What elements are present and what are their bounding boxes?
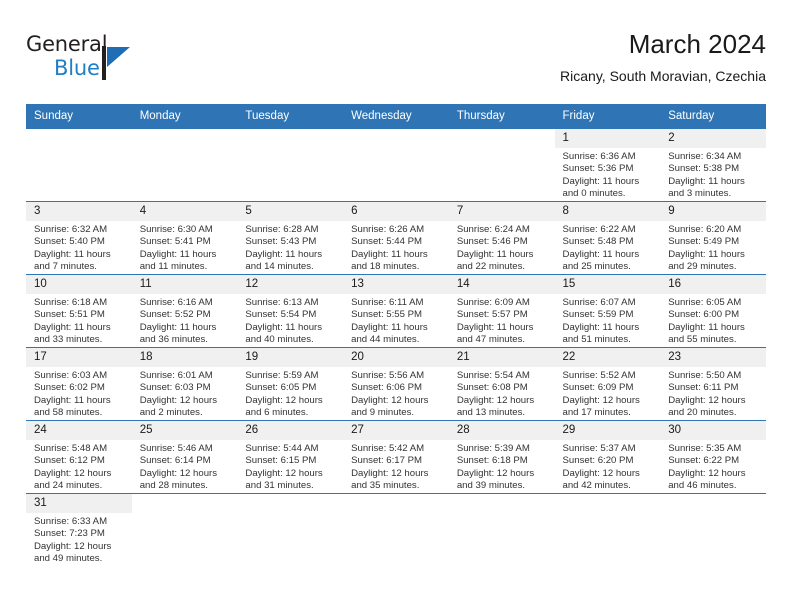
day-number bbox=[132, 129, 238, 148]
sun-info-line-1: Sunrise: 6:01 AM bbox=[140, 370, 232, 382]
sun-info-line-3: Daylight: 11 hours bbox=[245, 249, 337, 261]
sun-info-line-1: Sunrise: 5:59 AM bbox=[245, 370, 337, 382]
day-number: 29 bbox=[555, 421, 661, 440]
sun-info-line-4: and 49 minutes. bbox=[34, 553, 126, 565]
sun-info-line-1: Sunrise: 5:48 AM bbox=[34, 443, 126, 455]
sun-info-line-4: and 25 minutes. bbox=[563, 261, 655, 273]
sun-info-line-2: Sunset: 6:08 PM bbox=[457, 382, 549, 394]
sun-info-line-3: Daylight: 11 hours bbox=[34, 395, 126, 407]
sun-info-line-2: Sunset: 5:52 PM bbox=[140, 309, 232, 321]
sun-info-line-3: Daylight: 11 hours bbox=[457, 322, 549, 334]
sun-info-line-2: Sunset: 5:44 PM bbox=[351, 236, 443, 248]
day-cell-content: 5Sunrise: 6:28 AMSunset: 5:43 PMDaylight… bbox=[237, 202, 343, 274]
day-sun-info: Sunrise: 5:56 AMSunset: 6:06 PMDaylight:… bbox=[343, 367, 449, 419]
day-number bbox=[660, 494, 766, 513]
sun-info-line-2: Sunset: 5:55 PM bbox=[351, 309, 443, 321]
calendar-week-row: 10Sunrise: 6:18 AMSunset: 5:51 PMDayligh… bbox=[26, 275, 766, 348]
day-cell-content: 20Sunrise: 5:56 AMSunset: 6:06 PMDayligh… bbox=[343, 348, 449, 420]
calendar-day-cell[interactable]: 29Sunrise: 5:37 AMSunset: 6:20 PMDayligh… bbox=[555, 421, 661, 494]
sun-info-line-3: Daylight: 12 hours bbox=[245, 395, 337, 407]
weekday-header-monday: Monday bbox=[132, 104, 238, 129]
sun-info-line-4: and 29 minutes. bbox=[668, 261, 760, 273]
calendar-day-cell[interactable]: 11Sunrise: 6:16 AMSunset: 5:52 PMDayligh… bbox=[132, 275, 238, 348]
sun-info-line-3: Daylight: 11 hours bbox=[34, 322, 126, 334]
day-sun-info: Sunrise: 6:36 AMSunset: 5:36 PMDaylight:… bbox=[555, 148, 661, 200]
sun-info-line-1: Sunrise: 5:42 AM bbox=[351, 443, 443, 455]
page-header: General Blue March 2024 Ricany, South Mo… bbox=[26, 28, 766, 100]
sun-info-line-1: Sunrise: 5:37 AM bbox=[563, 443, 655, 455]
day-number: 9 bbox=[660, 202, 766, 221]
day-cell-content: 3Sunrise: 6:32 AMSunset: 5:40 PMDaylight… bbox=[26, 202, 132, 274]
day-cell-content bbox=[660, 494, 766, 566]
sun-info-line-2: Sunset: 7:23 PM bbox=[34, 528, 126, 540]
day-number: 19 bbox=[237, 348, 343, 367]
day-cell-content: 15Sunrise: 6:07 AMSunset: 5:59 PMDayligh… bbox=[555, 275, 661, 347]
sun-info-line-3: Daylight: 11 hours bbox=[457, 249, 549, 261]
calendar-day-cell[interactable]: 16Sunrise: 6:05 AMSunset: 6:00 PMDayligh… bbox=[660, 275, 766, 348]
day-sun-info: Sunrise: 6:11 AMSunset: 5:55 PMDaylight:… bbox=[343, 294, 449, 346]
calendar-day-cell[interactable]: 4Sunrise: 6:30 AMSunset: 5:41 PMDaylight… bbox=[132, 202, 238, 275]
day-cell-content: 27Sunrise: 5:42 AMSunset: 6:17 PMDayligh… bbox=[343, 421, 449, 493]
day-cell-content bbox=[343, 494, 449, 566]
calendar-day-cell[interactable]: 21Sunrise: 5:54 AMSunset: 6:08 PMDayligh… bbox=[449, 348, 555, 421]
sun-info-line-1: Sunrise: 6:30 AM bbox=[140, 224, 232, 236]
sun-info-line-3: Daylight: 11 hours bbox=[245, 322, 337, 334]
day-cell-content: 23Sunrise: 5:50 AMSunset: 6:11 PMDayligh… bbox=[660, 348, 766, 420]
calendar-week-row: 31Sunrise: 6:33 AMSunset: 7:23 PMDayligh… bbox=[26, 494, 766, 567]
page-subtitle: Ricany, South Moravian, Czechia bbox=[560, 65, 766, 87]
sun-info-line-4: and 58 minutes. bbox=[34, 407, 126, 419]
day-number bbox=[449, 129, 555, 148]
sun-info-line-3: Daylight: 12 hours bbox=[668, 395, 760, 407]
day-cell-content: 13Sunrise: 6:11 AMSunset: 5:55 PMDayligh… bbox=[343, 275, 449, 347]
day-sun-info: Sunrise: 6:24 AMSunset: 5:46 PMDaylight:… bbox=[449, 221, 555, 273]
day-cell-content: 31Sunrise: 6:33 AMSunset: 7:23 PMDayligh… bbox=[26, 494, 132, 566]
sun-info-line-2: Sunset: 6:17 PM bbox=[351, 455, 443, 467]
weekday-header-thursday: Thursday bbox=[449, 104, 555, 129]
sun-info-line-2: Sunset: 5:48 PM bbox=[563, 236, 655, 248]
day-number bbox=[237, 129, 343, 148]
sun-info-line-1: Sunrise: 5:54 AM bbox=[457, 370, 549, 382]
day-number bbox=[343, 129, 449, 148]
calendar-day-cell[interactable]: 9Sunrise: 6:20 AMSunset: 5:49 PMDaylight… bbox=[660, 202, 766, 275]
day-cell-content: 2Sunrise: 6:34 AMSunset: 5:38 PMDaylight… bbox=[660, 129, 766, 201]
day-number: 31 bbox=[26, 494, 132, 513]
day-number: 25 bbox=[132, 421, 238, 440]
sun-info-line-4: and 46 minutes. bbox=[668, 480, 760, 492]
day-cell-content: 4Sunrise: 6:30 AMSunset: 5:41 PMDaylight… bbox=[132, 202, 238, 274]
sun-info-line-4: and 39 minutes. bbox=[457, 480, 549, 492]
day-sun-info: Sunrise: 5:59 AMSunset: 6:05 PMDaylight:… bbox=[237, 367, 343, 419]
day-cell-content: 29Sunrise: 5:37 AMSunset: 6:20 PMDayligh… bbox=[555, 421, 661, 493]
day-cell-content: 21Sunrise: 5:54 AMSunset: 6:08 PMDayligh… bbox=[449, 348, 555, 420]
logo-vertical-bar-icon bbox=[102, 46, 106, 80]
calendar-table: Sunday Monday Tuesday Wednesday Thursday… bbox=[26, 104, 766, 566]
day-cell-content: 8Sunrise: 6:22 AMSunset: 5:48 PMDaylight… bbox=[555, 202, 661, 274]
sun-info-line-2: Sunset: 5:40 PM bbox=[34, 236, 126, 248]
sun-info-line-3: Daylight: 12 hours bbox=[563, 395, 655, 407]
sun-info-line-1: Sunrise: 6:33 AM bbox=[34, 516, 126, 528]
day-cell-content bbox=[26, 129, 132, 201]
day-sun-info: Sunrise: 5:44 AMSunset: 6:15 PMDaylight:… bbox=[237, 440, 343, 492]
day-sun-info: Sunrise: 6:03 AMSunset: 6:02 PMDaylight:… bbox=[26, 367, 132, 419]
sun-info-line-1: Sunrise: 6:16 AM bbox=[140, 297, 232, 309]
day-number bbox=[555, 494, 661, 513]
sun-info-line-4: and 6 minutes. bbox=[245, 407, 337, 419]
logo-text-general: General bbox=[26, 32, 107, 56]
day-sun-info: Sunrise: 6:33 AMSunset: 7:23 PMDaylight:… bbox=[26, 513, 132, 565]
general-blue-logo: General Blue bbox=[26, 32, 176, 88]
day-sun-info: Sunrise: 6:16 AMSunset: 5:52 PMDaylight:… bbox=[132, 294, 238, 346]
day-sun-info: Sunrise: 6:07 AMSunset: 5:59 PMDaylight:… bbox=[555, 294, 661, 346]
calendar-day-cell[interactable]: 30Sunrise: 5:35 AMSunset: 6:22 PMDayligh… bbox=[660, 421, 766, 494]
sun-info-line-3: Daylight: 12 hours bbox=[140, 468, 232, 480]
day-number: 26 bbox=[237, 421, 343, 440]
day-sun-info: Sunrise: 5:50 AMSunset: 6:11 PMDaylight:… bbox=[660, 367, 766, 419]
sun-info-line-4: and 55 minutes. bbox=[668, 334, 760, 346]
calendar-day-cell[interactable]: 6Sunrise: 6:26 AMSunset: 5:44 PMDaylight… bbox=[343, 202, 449, 275]
calendar-day-cell[interactable]: 25Sunrise: 5:46 AMSunset: 6:14 PMDayligh… bbox=[132, 421, 238, 494]
sun-info-line-3: Daylight: 12 hours bbox=[457, 468, 549, 480]
sun-info-line-3: Daylight: 12 hours bbox=[34, 541, 126, 553]
sun-info-line-4: and 11 minutes. bbox=[140, 261, 232, 273]
calendar-day-cell bbox=[343, 494, 449, 567]
day-sun-info: Sunrise: 6:09 AMSunset: 5:57 PMDaylight:… bbox=[449, 294, 555, 346]
calendar-day-cell bbox=[449, 129, 555, 202]
sun-info-line-4: and 22 minutes. bbox=[457, 261, 549, 273]
sun-info-line-4: and 42 minutes. bbox=[563, 480, 655, 492]
sun-info-line-3: Daylight: 11 hours bbox=[563, 322, 655, 334]
sun-info-line-3: Daylight: 12 hours bbox=[563, 468, 655, 480]
sun-info-line-2: Sunset: 6:12 PM bbox=[34, 455, 126, 467]
sun-info-line-4: and 44 minutes. bbox=[351, 334, 443, 346]
day-cell-content: 22Sunrise: 5:52 AMSunset: 6:09 PMDayligh… bbox=[555, 348, 661, 420]
calendar-body: 1Sunrise: 6:36 AMSunset: 5:36 PMDaylight… bbox=[26, 129, 766, 567]
sun-info-line-3: Daylight: 12 hours bbox=[668, 468, 760, 480]
day-number: 7 bbox=[449, 202, 555, 221]
sun-info-line-1: Sunrise: 6:36 AM bbox=[563, 151, 655, 163]
day-sun-info: Sunrise: 6:32 AMSunset: 5:40 PMDaylight:… bbox=[26, 221, 132, 273]
day-sun-info: Sunrise: 5:37 AMSunset: 6:20 PMDaylight:… bbox=[555, 440, 661, 492]
sun-info-line-1: Sunrise: 6:34 AM bbox=[668, 151, 760, 163]
sun-info-line-4: and 0 minutes. bbox=[563, 188, 655, 200]
day-number: 21 bbox=[449, 348, 555, 367]
calendar-day-cell bbox=[449, 494, 555, 567]
day-sun-info: Sunrise: 5:54 AMSunset: 6:08 PMDaylight:… bbox=[449, 367, 555, 419]
day-number: 1 bbox=[555, 129, 661, 148]
sun-info-line-2: Sunset: 5:43 PM bbox=[245, 236, 337, 248]
calendar-day-cell[interactable]: 14Sunrise: 6:09 AMSunset: 5:57 PMDayligh… bbox=[449, 275, 555, 348]
day-number bbox=[343, 494, 449, 513]
sun-info-line-1: Sunrise: 6:22 AM bbox=[563, 224, 655, 236]
sun-info-line-4: and 40 minutes. bbox=[245, 334, 337, 346]
day-cell-content: 28Sunrise: 5:39 AMSunset: 6:18 PMDayligh… bbox=[449, 421, 555, 493]
sun-info-line-3: Daylight: 12 hours bbox=[351, 395, 443, 407]
day-number: 8 bbox=[555, 202, 661, 221]
sun-info-line-3: Daylight: 12 hours bbox=[245, 468, 337, 480]
day-sun-info: Sunrise: 6:18 AMSunset: 5:51 PMDaylight:… bbox=[26, 294, 132, 346]
sun-info-line-1: Sunrise: 6:20 AM bbox=[668, 224, 760, 236]
sun-info-line-4: and 13 minutes. bbox=[457, 407, 549, 419]
sun-info-line-4: and 20 minutes. bbox=[668, 407, 760, 419]
day-sun-info: Sunrise: 6:26 AMSunset: 5:44 PMDaylight:… bbox=[343, 221, 449, 273]
sun-info-line-2: Sunset: 6:14 PM bbox=[140, 455, 232, 467]
calendar-week-row: 17Sunrise: 6:03 AMSunset: 6:02 PMDayligh… bbox=[26, 348, 766, 421]
sun-info-line-4: and 31 minutes. bbox=[245, 480, 337, 492]
weekday-header-wednesday: Wednesday bbox=[343, 104, 449, 129]
day-sun-info: Sunrise: 6:13 AMSunset: 5:54 PMDaylight:… bbox=[237, 294, 343, 346]
day-number: 14 bbox=[449, 275, 555, 294]
sun-info-line-1: Sunrise: 6:13 AM bbox=[245, 297, 337, 309]
calendar-page: General Blue March 2024 Ricany, South Mo… bbox=[0, 0, 792, 612]
day-cell-content bbox=[132, 129, 238, 201]
sun-info-line-1: Sunrise: 6:09 AM bbox=[457, 297, 549, 309]
day-cell-content: 26Sunrise: 5:44 AMSunset: 6:15 PMDayligh… bbox=[237, 421, 343, 493]
sun-info-line-2: Sunset: 5:51 PM bbox=[34, 309, 126, 321]
weekday-header-friday: Friday bbox=[555, 104, 661, 129]
sun-info-line-3: Daylight: 12 hours bbox=[351, 468, 443, 480]
day-sun-info: Sunrise: 6:05 AMSunset: 6:00 PMDaylight:… bbox=[660, 294, 766, 346]
sun-info-line-4: and 17 minutes. bbox=[563, 407, 655, 419]
day-number: 28 bbox=[449, 421, 555, 440]
sun-info-line-3: Daylight: 12 hours bbox=[140, 395, 232, 407]
calendar-day-cell bbox=[237, 129, 343, 202]
sun-info-line-2: Sunset: 6:11 PM bbox=[668, 382, 760, 394]
sun-info-line-2: Sunset: 6:22 PM bbox=[668, 455, 760, 467]
calendar-day-cell[interactable]: 27Sunrise: 5:42 AMSunset: 6:17 PMDayligh… bbox=[343, 421, 449, 494]
day-number: 30 bbox=[660, 421, 766, 440]
sun-info-line-2: Sunset: 6:03 PM bbox=[140, 382, 232, 394]
calendar-day-cell[interactable]: 24Sunrise: 5:48 AMSunset: 6:12 PMDayligh… bbox=[26, 421, 132, 494]
calendar-week-row: 24Sunrise: 5:48 AMSunset: 6:12 PMDayligh… bbox=[26, 421, 766, 494]
calendar-day-cell[interactable]: 18Sunrise: 6:01 AMSunset: 6:03 PMDayligh… bbox=[132, 348, 238, 421]
day-cell-content: 25Sunrise: 5:46 AMSunset: 6:14 PMDayligh… bbox=[132, 421, 238, 493]
sun-info-line-1: Sunrise: 6:32 AM bbox=[34, 224, 126, 236]
calendar-day-cell[interactable]: 17Sunrise: 6:03 AMSunset: 6:02 PMDayligh… bbox=[26, 348, 132, 421]
day-number: 2 bbox=[660, 129, 766, 148]
calendar-day-cell[interactable]: 20Sunrise: 5:56 AMSunset: 6:06 PMDayligh… bbox=[343, 348, 449, 421]
day-number: 4 bbox=[132, 202, 238, 221]
day-cell-content: 12Sunrise: 6:13 AMSunset: 5:54 PMDayligh… bbox=[237, 275, 343, 347]
calendar-day-cell bbox=[132, 129, 238, 202]
day-sun-info: Sunrise: 5:42 AMSunset: 6:17 PMDaylight:… bbox=[343, 440, 449, 492]
calendar-day-cell[interactable]: 23Sunrise: 5:50 AMSunset: 6:11 PMDayligh… bbox=[660, 348, 766, 421]
sun-info-line-3: Daylight: 11 hours bbox=[668, 176, 760, 188]
day-cell-content bbox=[132, 494, 238, 566]
sun-info-line-3: Daylight: 11 hours bbox=[140, 322, 232, 334]
day-cell-content: 7Sunrise: 6:24 AMSunset: 5:46 PMDaylight… bbox=[449, 202, 555, 274]
calendar-day-cell[interactable]: 28Sunrise: 5:39 AMSunset: 6:18 PMDayligh… bbox=[449, 421, 555, 494]
day-number: 12 bbox=[237, 275, 343, 294]
sun-info-line-2: Sunset: 6:15 PM bbox=[245, 455, 337, 467]
sun-info-line-1: Sunrise: 5:39 AM bbox=[457, 443, 549, 455]
day-number: 22 bbox=[555, 348, 661, 367]
sun-info-line-3: Daylight: 11 hours bbox=[563, 176, 655, 188]
day-sun-info: Sunrise: 5:52 AMSunset: 6:09 PMDaylight:… bbox=[555, 367, 661, 419]
sun-info-line-2: Sunset: 5:41 PM bbox=[140, 236, 232, 248]
day-sun-info: Sunrise: 6:28 AMSunset: 5:43 PMDaylight:… bbox=[237, 221, 343, 273]
day-number: 18 bbox=[132, 348, 238, 367]
calendar-day-cell[interactable]: 15Sunrise: 6:07 AMSunset: 5:59 PMDayligh… bbox=[555, 275, 661, 348]
sun-info-line-2: Sunset: 5:46 PM bbox=[457, 236, 549, 248]
sun-info-line-2: Sunset: 6:20 PM bbox=[563, 455, 655, 467]
day-cell-content: 16Sunrise: 6:05 AMSunset: 6:00 PMDayligh… bbox=[660, 275, 766, 347]
sun-info-line-1: Sunrise: 5:35 AM bbox=[668, 443, 760, 455]
sun-info-line-2: Sunset: 6:18 PM bbox=[457, 455, 549, 467]
sun-info-line-3: Daylight: 11 hours bbox=[351, 322, 443, 334]
sun-info-line-3: Daylight: 12 hours bbox=[34, 468, 126, 480]
calendar-day-cell bbox=[343, 129, 449, 202]
sun-info-line-4: and 9 minutes. bbox=[351, 407, 443, 419]
day-number: 17 bbox=[26, 348, 132, 367]
day-number: 6 bbox=[343, 202, 449, 221]
calendar-day-cell[interactable]: 26Sunrise: 5:44 AMSunset: 6:15 PMDayligh… bbox=[237, 421, 343, 494]
sun-info-line-2: Sunset: 5:49 PM bbox=[668, 236, 760, 248]
calendar-day-cell[interactable]: 1Sunrise: 6:36 AMSunset: 5:36 PMDaylight… bbox=[555, 129, 661, 202]
logo-text-blue: Blue bbox=[54, 56, 100, 80]
sun-info-line-4: and 7 minutes. bbox=[34, 261, 126, 273]
day-number: 24 bbox=[26, 421, 132, 440]
day-cell-content: 6Sunrise: 6:26 AMSunset: 5:44 PMDaylight… bbox=[343, 202, 449, 274]
weekday-header-saturday: Saturday bbox=[660, 104, 766, 129]
calendar-day-cell[interactable]: 8Sunrise: 6:22 AMSunset: 5:48 PMDaylight… bbox=[555, 202, 661, 275]
sun-info-line-4: and 36 minutes. bbox=[140, 334, 232, 346]
day-sun-info: Sunrise: 5:39 AMSunset: 6:18 PMDaylight:… bbox=[449, 440, 555, 492]
calendar-day-cell bbox=[237, 494, 343, 567]
sun-info-line-3: Daylight: 11 hours bbox=[34, 249, 126, 261]
day-sun-info: Sunrise: 6:22 AMSunset: 5:48 PMDaylight:… bbox=[555, 221, 661, 273]
weekday-header-tuesday: Tuesday bbox=[237, 104, 343, 129]
triangle-logo-icon bbox=[107, 47, 130, 67]
sun-info-line-2: Sunset: 6:00 PM bbox=[668, 309, 760, 321]
sun-info-line-3: Daylight: 11 hours bbox=[140, 249, 232, 261]
day-sun-info: Sunrise: 5:48 AMSunset: 6:12 PMDaylight:… bbox=[26, 440, 132, 492]
sun-info-line-4: and 28 minutes. bbox=[140, 480, 232, 492]
day-cell-content bbox=[449, 494, 555, 566]
calendar-day-cell[interactable]: 13Sunrise: 6:11 AMSunset: 5:55 PMDayligh… bbox=[343, 275, 449, 348]
sun-info-line-1: Sunrise: 5:44 AM bbox=[245, 443, 337, 455]
calendar-header-row: Sunday Monday Tuesday Wednesday Thursday… bbox=[26, 104, 766, 129]
day-cell-content: 9Sunrise: 6:20 AMSunset: 5:49 PMDaylight… bbox=[660, 202, 766, 274]
sun-info-line-1: Sunrise: 6:28 AM bbox=[245, 224, 337, 236]
calendar-day-cell[interactable]: 5Sunrise: 6:28 AMSunset: 5:43 PMDaylight… bbox=[237, 202, 343, 275]
sun-info-line-4: and 18 minutes. bbox=[351, 261, 443, 273]
sun-info-line-4: and 2 minutes. bbox=[140, 407, 232, 419]
calendar-day-cell[interactable]: 22Sunrise: 5:52 AMSunset: 6:09 PMDayligh… bbox=[555, 348, 661, 421]
day-cell-content bbox=[555, 494, 661, 566]
calendar-day-cell[interactable]: 2Sunrise: 6:34 AMSunset: 5:38 PMDaylight… bbox=[660, 129, 766, 202]
weekday-header-sunday: Sunday bbox=[26, 104, 132, 129]
sun-info-line-3: Daylight: 11 hours bbox=[668, 249, 760, 261]
day-number bbox=[449, 494, 555, 513]
sun-info-line-4: and 35 minutes. bbox=[351, 480, 443, 492]
sun-info-line-3: Daylight: 11 hours bbox=[668, 322, 760, 334]
calendar-day-cell bbox=[555, 494, 661, 567]
day-sun-info: Sunrise: 6:34 AMSunset: 5:38 PMDaylight:… bbox=[660, 148, 766, 200]
sun-info-line-1: Sunrise: 6:26 AM bbox=[351, 224, 443, 236]
sun-info-line-1: Sunrise: 6:24 AM bbox=[457, 224, 549, 236]
day-cell-content: 1Sunrise: 6:36 AMSunset: 5:36 PMDaylight… bbox=[555, 129, 661, 201]
sun-info-line-4: and 47 minutes. bbox=[457, 334, 549, 346]
day-cell-content: 11Sunrise: 6:16 AMSunset: 5:52 PMDayligh… bbox=[132, 275, 238, 347]
title-block: March 2024 Ricany, South Moravian, Czech… bbox=[560, 28, 766, 87]
day-cell-content bbox=[237, 129, 343, 201]
sun-info-line-4: and 3 minutes. bbox=[668, 188, 760, 200]
sun-info-line-2: Sunset: 6:09 PM bbox=[563, 382, 655, 394]
calendar-day-cell[interactable]: 10Sunrise: 6:18 AMSunset: 5:51 PMDayligh… bbox=[26, 275, 132, 348]
calendar-day-cell[interactable]: 7Sunrise: 6:24 AMSunset: 5:46 PMDaylight… bbox=[449, 202, 555, 275]
sun-info-line-1: Sunrise: 6:07 AM bbox=[563, 297, 655, 309]
day-number: 11 bbox=[132, 275, 238, 294]
day-cell-content bbox=[449, 129, 555, 201]
day-cell-content: 18Sunrise: 6:01 AMSunset: 6:03 PMDayligh… bbox=[132, 348, 238, 420]
day-cell-content: 14Sunrise: 6:09 AMSunset: 5:57 PMDayligh… bbox=[449, 275, 555, 347]
day-number: 23 bbox=[660, 348, 766, 367]
day-number bbox=[237, 494, 343, 513]
calendar-week-row: 3Sunrise: 6:32 AMSunset: 5:40 PMDaylight… bbox=[26, 202, 766, 275]
calendar-day-cell[interactable]: 12Sunrise: 6:13 AMSunset: 5:54 PMDayligh… bbox=[237, 275, 343, 348]
sun-info-line-4: and 24 minutes. bbox=[34, 480, 126, 492]
sun-info-line-2: Sunset: 5:59 PM bbox=[563, 309, 655, 321]
calendar-day-cell[interactable]: 3Sunrise: 6:32 AMSunset: 5:40 PMDaylight… bbox=[26, 202, 132, 275]
sun-info-line-2: Sunset: 6:02 PM bbox=[34, 382, 126, 394]
day-sun-info: Sunrise: 6:20 AMSunset: 5:49 PMDaylight:… bbox=[660, 221, 766, 273]
sun-info-line-3: Daylight: 12 hours bbox=[457, 395, 549, 407]
sun-info-line-2: Sunset: 5:57 PM bbox=[457, 309, 549, 321]
sun-info-line-2: Sunset: 5:38 PM bbox=[668, 163, 760, 175]
sun-info-line-1: Sunrise: 5:50 AM bbox=[668, 370, 760, 382]
sun-info-line-1: Sunrise: 6:03 AM bbox=[34, 370, 126, 382]
sun-info-line-3: Daylight: 11 hours bbox=[563, 249, 655, 261]
sun-info-line-1: Sunrise: 6:11 AM bbox=[351, 297, 443, 309]
sun-info-line-4: and 14 minutes. bbox=[245, 261, 337, 273]
day-cell-content: 17Sunrise: 6:03 AMSunset: 6:02 PMDayligh… bbox=[26, 348, 132, 420]
sun-info-line-3: Daylight: 11 hours bbox=[351, 249, 443, 261]
calendar-day-cell bbox=[660, 494, 766, 567]
calendar-day-cell[interactable]: 31Sunrise: 6:33 AMSunset: 7:23 PMDayligh… bbox=[26, 494, 132, 567]
day-sun-info: Sunrise: 6:01 AMSunset: 6:03 PMDaylight:… bbox=[132, 367, 238, 419]
day-number: 3 bbox=[26, 202, 132, 221]
calendar-week-row: 1Sunrise: 6:36 AMSunset: 5:36 PMDaylight… bbox=[26, 129, 766, 202]
day-cell-content: 30Sunrise: 5:35 AMSunset: 6:22 PMDayligh… bbox=[660, 421, 766, 493]
sun-info-line-1: Sunrise: 5:56 AM bbox=[351, 370, 443, 382]
day-cell-content bbox=[237, 494, 343, 566]
day-sun-info: Sunrise: 6:30 AMSunset: 5:41 PMDaylight:… bbox=[132, 221, 238, 273]
sun-info-line-2: Sunset: 5:54 PM bbox=[245, 309, 337, 321]
day-cell-content: 10Sunrise: 6:18 AMSunset: 5:51 PMDayligh… bbox=[26, 275, 132, 347]
day-number: 13 bbox=[343, 275, 449, 294]
day-number: 20 bbox=[343, 348, 449, 367]
sun-info-line-2: Sunset: 6:06 PM bbox=[351, 382, 443, 394]
day-cell-content: 24Sunrise: 5:48 AMSunset: 6:12 PMDayligh… bbox=[26, 421, 132, 493]
sun-info-line-1: Sunrise: 5:52 AM bbox=[563, 370, 655, 382]
day-number: 10 bbox=[26, 275, 132, 294]
day-cell-content: 19Sunrise: 5:59 AMSunset: 6:05 PMDayligh… bbox=[237, 348, 343, 420]
day-cell-content bbox=[343, 129, 449, 201]
sun-info-line-1: Sunrise: 6:05 AM bbox=[668, 297, 760, 309]
calendar-day-cell[interactable]: 19Sunrise: 5:59 AMSunset: 6:05 PMDayligh… bbox=[237, 348, 343, 421]
sun-info-line-4: and 33 minutes. bbox=[34, 334, 126, 346]
calendar-day-cell bbox=[26, 129, 132, 202]
sun-info-line-2: Sunset: 6:05 PM bbox=[245, 382, 337, 394]
sun-info-line-4: and 51 minutes. bbox=[563, 334, 655, 346]
sun-info-line-1: Sunrise: 6:18 AM bbox=[34, 297, 126, 309]
day-number bbox=[26, 129, 132, 148]
sun-info-line-1: Sunrise: 5:46 AM bbox=[140, 443, 232, 455]
day-number: 5 bbox=[237, 202, 343, 221]
day-sun-info: Sunrise: 5:35 AMSunset: 6:22 PMDaylight:… bbox=[660, 440, 766, 492]
sun-info-line-2: Sunset: 5:36 PM bbox=[563, 163, 655, 175]
